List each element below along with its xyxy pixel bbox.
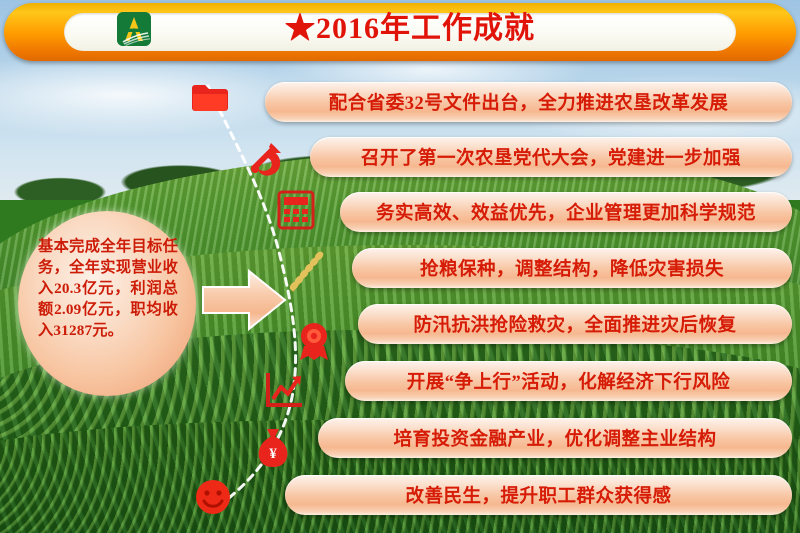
company-logo-icon [117, 12, 151, 46]
achievement-text-3: 务实高效、效益优先，企业管理更加科学规范 [376, 199, 756, 225]
achievement-bar-4[interactable]: 抢粮保种，调整结构，降低灾害损失 [352, 248, 792, 288]
achievement-text-5: 防汛抗洪抢险救灾，全面推进灾后恢复 [413, 311, 736, 337]
achievement-text-2: 召开了第一次农垦党代大会，党建进一步加强 [361, 144, 741, 170]
achievement-bar-5[interactable]: 防汛抗洪抢险救灾，全面推进灾后恢复 [358, 304, 792, 344]
right-arrow-icon [201, 268, 287, 332]
achievement-bar-6[interactable]: 开展“争上行”活动，化解经济下行风险 [345, 361, 792, 401]
slide-canvas: ★2016年工作成就 基本完成全年目标任务，全年实现营业收入20.3亿元，利润总… [0, 0, 800, 533]
wheat-icon [283, 246, 329, 299]
party-emblem-icon [243, 137, 287, 186]
achievement-text-6: 开展“争上行”活动，化解经济下行风险 [407, 368, 731, 394]
achievement-bar-7[interactable]: 培育投资金融产业，优化调整主业结构 [318, 418, 792, 458]
svg-text:¥: ¥ [269, 446, 277, 462]
award-rosette-icon [294, 320, 334, 367]
smiley-face-icon [194, 478, 232, 521]
achievement-text-1: 配合省委32号文件出台，全力推进农垦改革发展 [329, 89, 729, 115]
folder-icon [190, 82, 230, 119]
achievement-bar-3[interactable]: 务实高效、效益优先，企业管理更加科学规范 [340, 192, 792, 232]
achievement-bar-2[interactable]: 召开了第一次农垦党代大会，党建进一步加强 [310, 137, 792, 177]
achievement-text-7: 培育投资金融产业，优化调整主业结构 [393, 425, 716, 451]
growth-chart-icon [264, 371, 306, 416]
achievement-bar-1[interactable]: 配合省委32号文件出台，全力推进农垦改革发展 [265, 82, 792, 122]
calculator-icon [277, 190, 315, 235]
summary-text: 基本完成全年目标任务，全年实现营业收入20.3亿元，利润总额2.09亿元，职均收… [38, 236, 178, 341]
achievement-bar-8[interactable]: 改善民生，提升职工群众获得感 [285, 475, 792, 515]
achievement-text-4: 抢粮保种，调整结构，降低灾害损失 [420, 255, 724, 281]
page-title: ★2016年工作成就 [160, 11, 660, 47]
money-bag-icon: ¥ [253, 425, 293, 474]
achievement-text-8: 改善民生，提升职工群众获得感 [405, 482, 671, 508]
